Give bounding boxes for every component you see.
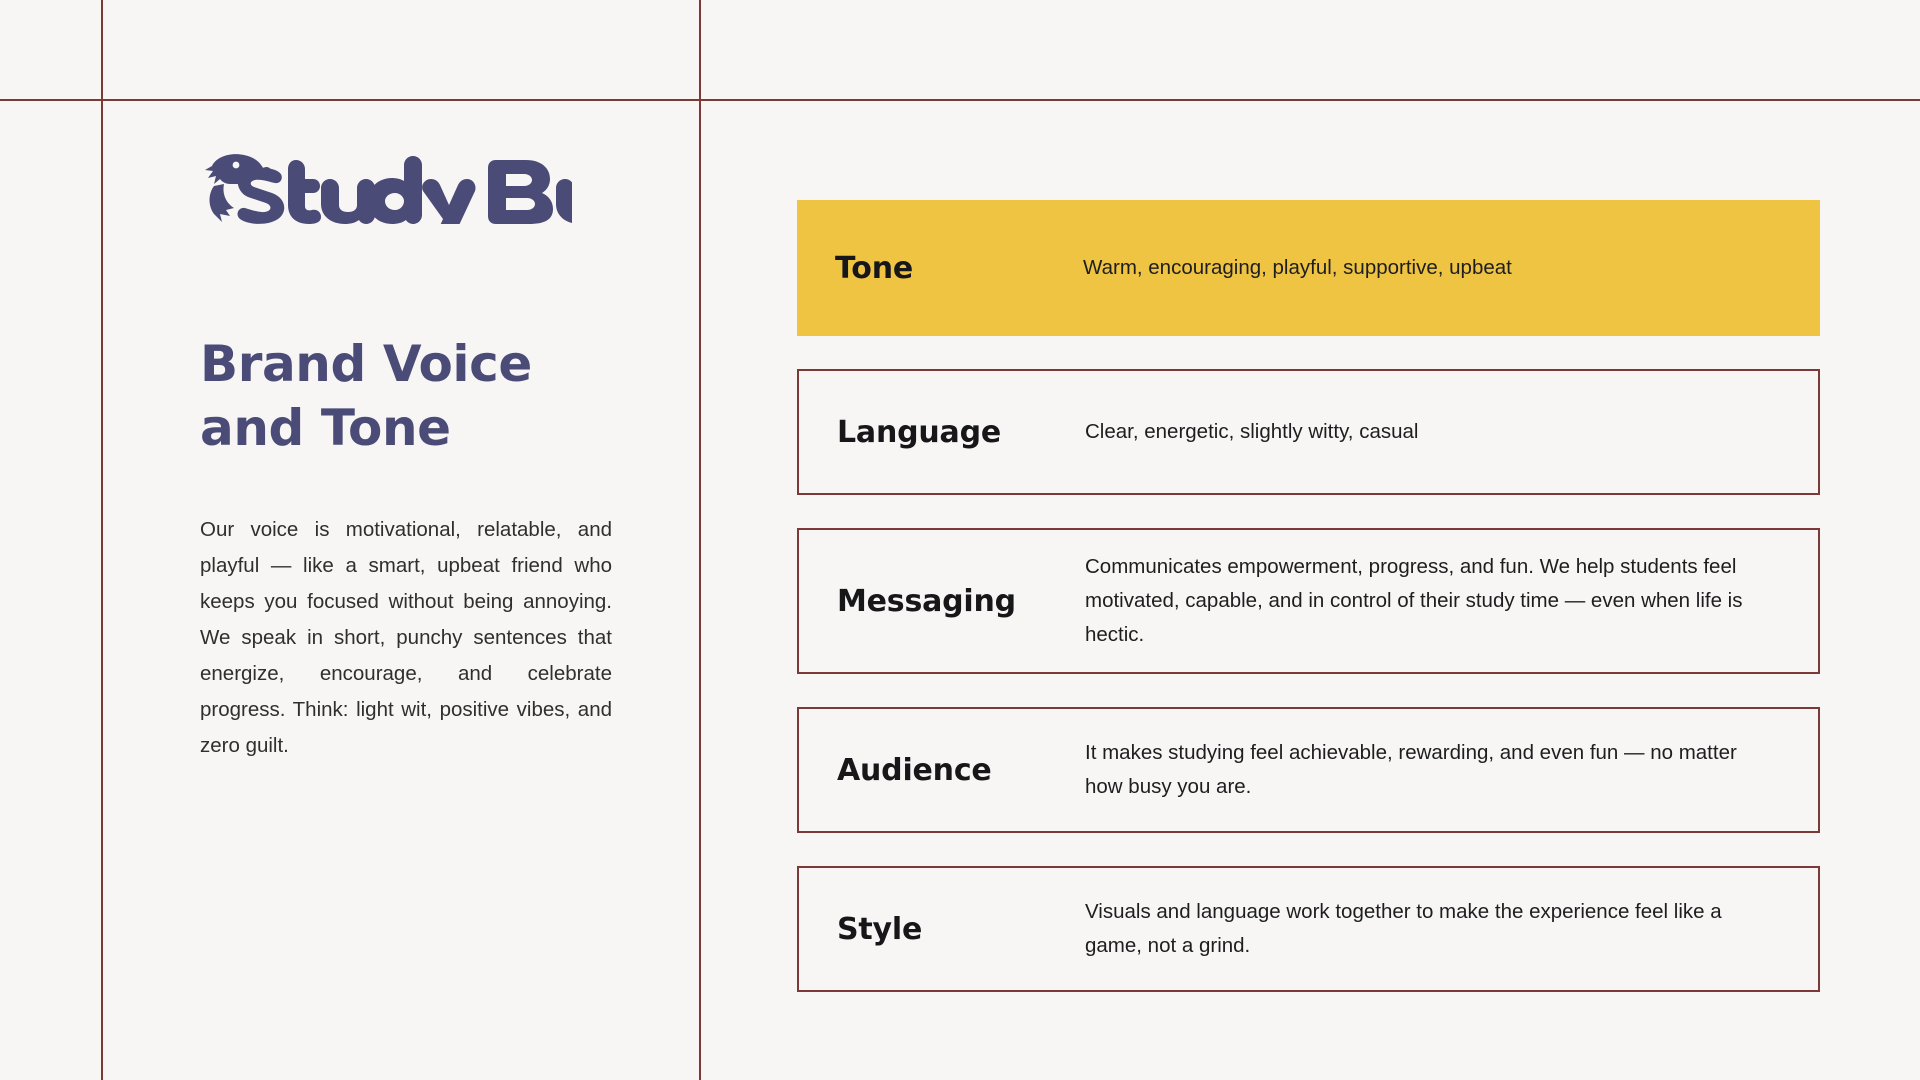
- attribute-row-messaging: Messaging Communicates empowerment, prog…: [797, 528, 1820, 674]
- attribute-description-audience: It makes studying feel achievable, rewar…: [1085, 736, 1780, 804]
- attribute-row-tone: Tone Warm, encouraging, playful, support…: [797, 200, 1820, 336]
- attribute-description-language: Clear, energetic, slightly witty, casual: [1085, 415, 1780, 449]
- guide-line-vertical-middle: [699, 0, 701, 1080]
- attribute-label-language: Language: [837, 415, 1085, 450]
- attribute-row-audience: Audience It makes studying feel achievab…: [797, 707, 1820, 833]
- guide-line-vertical-left: [101, 0, 103, 1080]
- attribute-description-tone: Warm, encouraging, playful, supportive, …: [1083, 251, 1782, 285]
- attribute-label-audience: Audience: [837, 753, 1085, 788]
- attribute-label-style: Style: [837, 912, 1085, 947]
- guide-line-horizontal: [0, 99, 1920, 101]
- attribute-row-style: Style Visuals and language work together…: [797, 866, 1820, 992]
- study-buddy-logo: [200, 148, 572, 224]
- attribute-label-tone: Tone: [835, 251, 1083, 286]
- brand-attribute-list: Tone Warm, encouraging, playful, support…: [797, 200, 1820, 1025]
- intro-paragraph: Our voice is motivational, relatable, an…: [200, 512, 612, 764]
- attribute-row-language: Language Clear, energetic, slightly witt…: [797, 369, 1820, 495]
- attribute-description-style: Visuals and language work together to ma…: [1085, 895, 1780, 963]
- page-title: Brand Voice and Tone: [200, 332, 612, 460]
- left-column: Brand Voice and Tone Our voice is motiva…: [200, 148, 612, 764]
- attribute-description-messaging: Communicates empowerment, progress, and …: [1085, 550, 1780, 652]
- attribute-label-messaging: Messaging: [837, 584, 1085, 619]
